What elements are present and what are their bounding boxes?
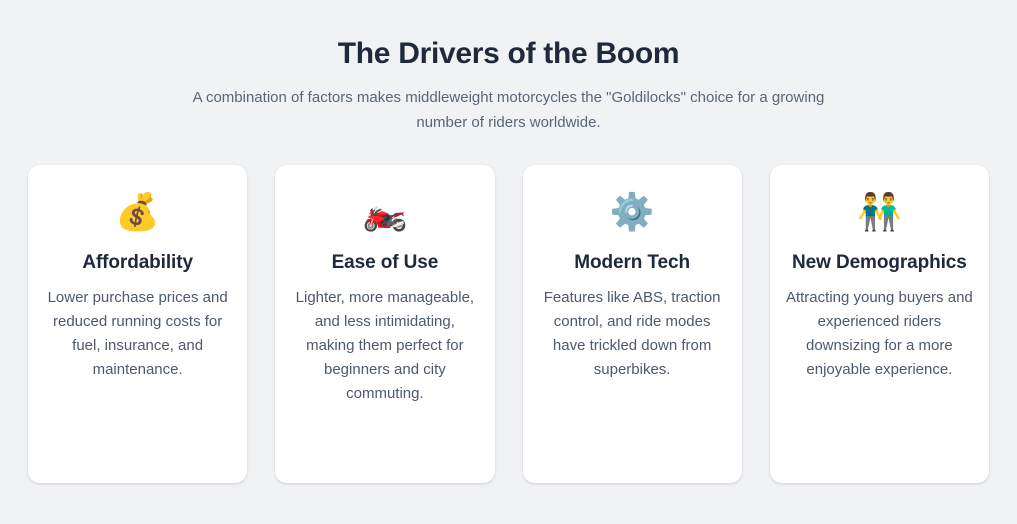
feature-card-text: Lighter, more manageable, and less intim… <box>291 286 478 406</box>
feature-card-text: Attracting young buyers and experienced … <box>786 286 973 382</box>
page-subtitle: A combination of factors makes middlewei… <box>173 85 845 135</box>
feature-card-title: Modern Tech <box>574 249 690 277</box>
feature-card-text: Lower purchase prices and reduced runnin… <box>44 286 231 382</box>
two-people-holding-hands-icon: 👬 <box>857 191 902 237</box>
feature-card: 💰 Affordability Lower purchase prices an… <box>28 165 247 483</box>
feature-card: ⚙️ Modern Tech Features like ABS, tracti… <box>523 165 742 483</box>
feature-card-title: Affordability <box>82 249 193 277</box>
feature-card-grid: 💰 Affordability Lower purchase prices an… <box>28 165 989 483</box>
feature-card-title: Ease of Use <box>332 249 439 277</box>
drivers-of-the-boom-section: The Drivers of the Boom A combination of… <box>0 0 1017 524</box>
feature-card: 👬 New Demographics Attracting young buye… <box>770 165 989 483</box>
motorcycle-icon: 🏍️ <box>362 191 407 237</box>
feature-card: 🏍️ Ease of Use Lighter, more manageable,… <box>275 165 494 483</box>
gear-icon: ⚙️ <box>610 191 655 237</box>
money-bag-icon: 💰 <box>115 191 160 237</box>
section-header: The Drivers of the Boom A combination of… <box>28 28 989 135</box>
feature-card-title: New Demographics <box>792 249 967 277</box>
page-title: The Drivers of the Boom <box>28 35 989 73</box>
feature-card-text: Features like ABS, traction control, and… <box>539 286 726 382</box>
